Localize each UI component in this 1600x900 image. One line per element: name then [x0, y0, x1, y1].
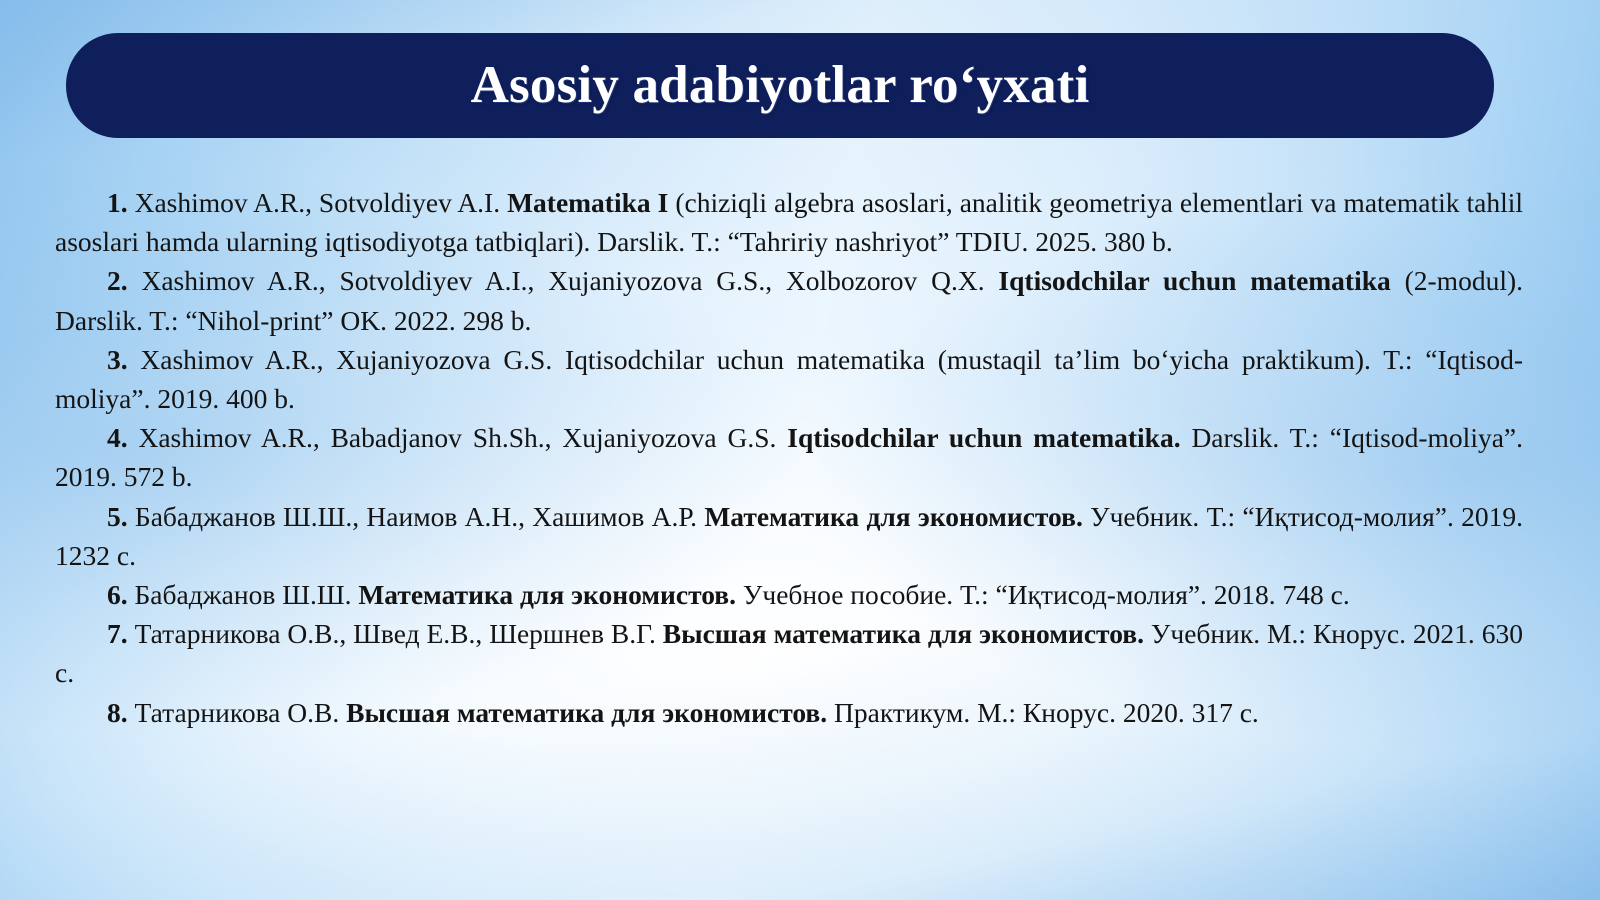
reference-title-text: Matematika I — [507, 187, 668, 218]
reference-number: 6. — [107, 579, 128, 610]
reference-title-text: Iqtisodchilar uchun matematika — [998, 265, 1390, 296]
slide-background: Asosiy adabiyotlar ro‘yxati 1. Xashimov … — [0, 0, 1600, 900]
reference-title-text: Iqtisodchilar uchun matematika. — [787, 422, 1180, 453]
reference-body-text: Татарникова О.В. — [128, 697, 346, 728]
reference-title-text: Математика для экономистов. — [704, 501, 1083, 532]
reference-body-text: Бабаджанов Ш.Ш., Наимов А.Н., Хашимов А.… — [128, 501, 705, 532]
page-title: Asosiy adabiyotlar ro‘yxati — [471, 59, 1090, 112]
reference-number: 4. — [107, 422, 128, 453]
reference-number: 5. — [107, 501, 128, 532]
reference-body-text: Учебное пособие. Т.: “Иқтисод-молия”. 20… — [736, 579, 1350, 610]
reference-item: 7. Татарникова О.В., Швед Е.В., Шершнев … — [55, 614, 1523, 692]
reference-item: 4. Xashimov A.R., Babadjanov Sh.Sh., Xuj… — [55, 418, 1523, 496]
reference-item: 6. Бабаджанов Ш.Ш. Математика для эконом… — [55, 575, 1523, 614]
reference-item: 2. Xashimov A.R., Sotvoldiyev A.I., Xuja… — [55, 261, 1523, 339]
reference-number: 3. — [107, 344, 128, 375]
reference-body-text: Бабаджанов Ш.Ш. — [128, 579, 359, 610]
reference-body-text: Xashimov A.R., Babadjanov Sh.Sh., Xujani… — [128, 422, 788, 453]
reference-body-text: Xashimov A.R., Sotvoldiyev A.I., Xujaniy… — [128, 265, 999, 296]
reference-list: 1. Xashimov A.R., Sotvoldiyev A.I. Matem… — [55, 183, 1523, 732]
reference-item: 1. Xashimov A.R., Sotvoldiyev A.I. Matem… — [55, 183, 1523, 261]
reference-body-text: Татарникова О.В., Швед Е.В., Шершнев В.Г… — [128, 618, 663, 649]
reference-item: 3. Xashimov A.R., Xujaniyozova G.S. Iqti… — [55, 340, 1523, 418]
reference-number: 8. — [107, 697, 128, 728]
reference-item: 5. Бабаджанов Ш.Ш., Наимов А.Н., Хашимов… — [55, 497, 1523, 575]
reference-title-text: Математика для экономистов. — [358, 579, 736, 610]
reference-title-text: Высшая математика для экономистов. — [663, 618, 1144, 649]
slide-content: Asosiy adabiyotlar ro‘yxati 1. Xashimov … — [0, 0, 1600, 900]
reference-title-text: Высшая математика для экономистов. — [346, 697, 827, 728]
reference-body-text: Практикум. М.: Кнорус. 2020. 317 с. — [827, 697, 1259, 728]
title-banner: Asosiy adabiyotlar ro‘yxati — [66, 33, 1494, 138]
reference-body-text: Xashimov A.R., Sotvoldiyev A.I. — [128, 187, 507, 218]
reference-number: 1. — [107, 187, 128, 218]
reference-body-text: Xashimov A.R., Xujaniyozova G.S. Iqtisod… — [55, 344, 1523, 414]
reference-number: 2. — [107, 265, 128, 296]
reference-item: 8. Татарникова О.В. Высшая математика дл… — [55, 693, 1523, 732]
reference-number: 7. — [107, 618, 128, 649]
